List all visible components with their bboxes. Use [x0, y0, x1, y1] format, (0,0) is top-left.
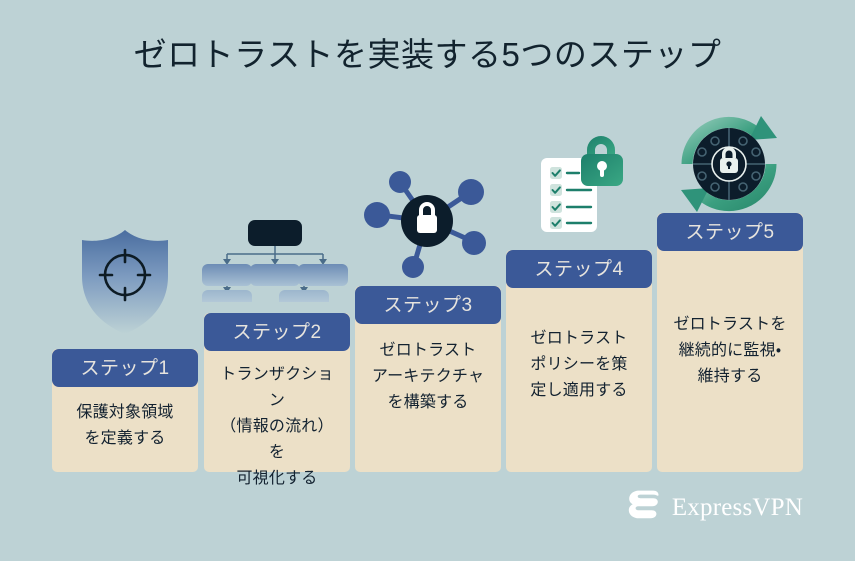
step-badge-1: ステップ1 — [52, 349, 198, 387]
step-body-line: 維持する — [666, 364, 794, 390]
expressvpn-logo-text: ExpressVPN — [672, 495, 803, 520]
step-card-5[interactable]: ステップ5 ゼロトラストを 継続的に監視・ 維持する — [657, 213, 803, 472]
checklist-lock-icon — [529, 128, 635, 236]
step-badge-4: ステップ4 — [506, 250, 652, 288]
infographic-canvas: ゼロトラストを実装する5つのステップ — [0, 0, 855, 561]
step-body-line: 可視化する — [213, 466, 341, 492]
network-lock-icon — [362, 163, 492, 283]
step-body-line: 継続的に監視・ — [666, 338, 794, 364]
flowchart-icon — [200, 218, 350, 302]
step-card-3[interactable]: ステップ3 ゼロトラスト アーキテクチャ を構築する — [355, 286, 501, 472]
refresh-lock-icon — [673, 108, 785, 220]
step-body-line: を構築する — [364, 390, 492, 416]
step-badge-label-5: ステップ5 — [685, 223, 774, 242]
step-body-line: ポリシーを策 — [515, 352, 643, 378]
step-body-line: （情報の流れ）を — [213, 414, 341, 466]
expressvpn-logo-icon — [628, 490, 662, 525]
step-body-line: 定し適用する — [515, 378, 643, 404]
step-card-1[interactable]: ステップ1 保護対象領域 を定義する — [52, 349, 198, 472]
step-card-4[interactable]: ステップ4 ゼロトラスト ポリシーを策 定し適用する — [506, 250, 652, 472]
step-badge-3: ステップ3 — [355, 286, 501, 324]
step-body-line: アーキテクチャ — [364, 364, 492, 390]
step-badge-label-2: ステップ2 — [232, 323, 321, 342]
step-body-line: ゼロトラスト — [364, 338, 492, 364]
step-body-line: トランザクション — [213, 362, 341, 414]
expressvpn-logo: ExpressVPN — [628, 490, 803, 525]
step-card-2[interactable]: ステップ2 トランザクション （情報の流れ）を 可視化する — [204, 313, 350, 472]
step-body-line: ゼロトラスト — [515, 326, 643, 352]
step-body-line: ゼロトラストを — [666, 312, 794, 338]
step-badge-2: ステップ2 — [204, 313, 350, 351]
step-badge-5: ステップ5 — [657, 213, 803, 251]
step-body-line: 保護対象領域 — [61, 400, 189, 426]
step-badge-label-3: ステップ3 — [383, 296, 472, 315]
shield-target-icon — [76, 228, 174, 336]
step-badge-label-1: ステップ1 — [80, 359, 169, 378]
step-badge-label-4: ステップ4 — [534, 260, 623, 279]
page-title: ゼロトラストを実装する5つのステップ — [0, 34, 855, 76]
step-body-line: を定義する — [61, 426, 189, 452]
